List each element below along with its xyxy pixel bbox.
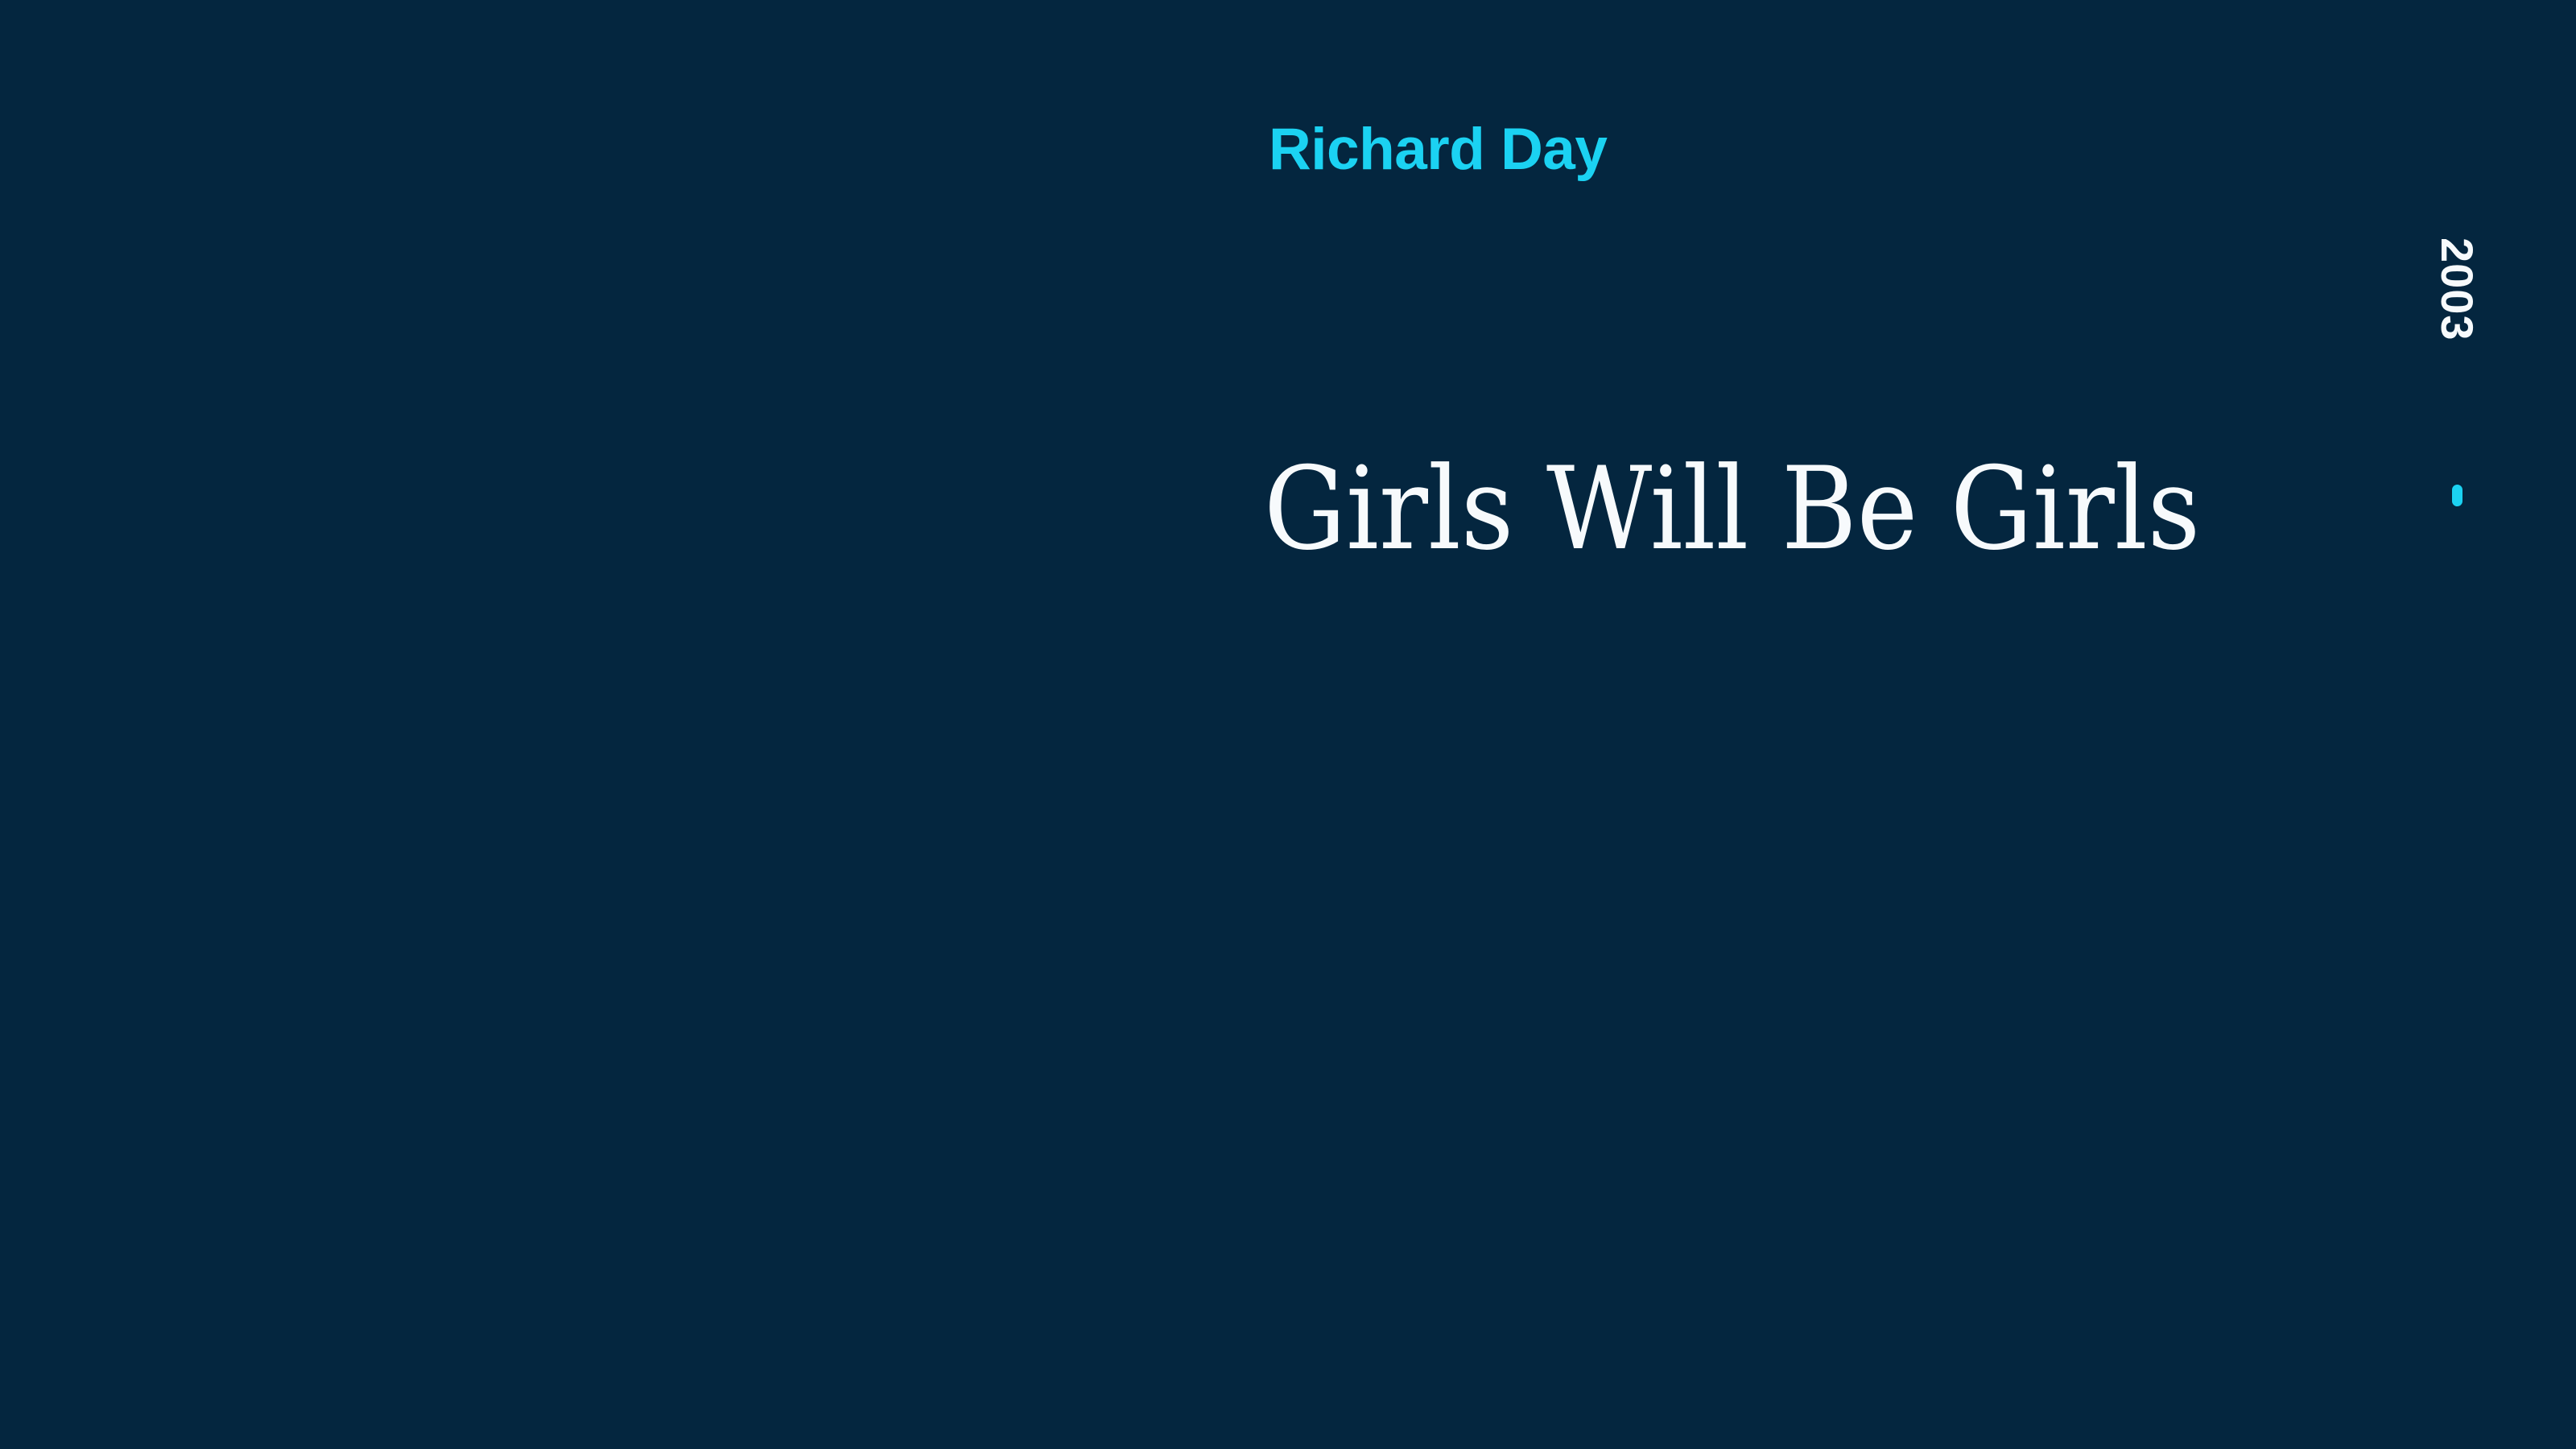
accent-dash-icon — [2452, 485, 2462, 506]
poster-canvas: Richard Day Girls Will Be Girls 2003 — [0, 0, 2576, 1449]
author-name: Richard Day — [1269, 119, 1608, 181]
year-label: 2003 — [2434, 237, 2479, 341]
film-title: Girls Will Be Girls — [1264, 452, 2200, 567]
